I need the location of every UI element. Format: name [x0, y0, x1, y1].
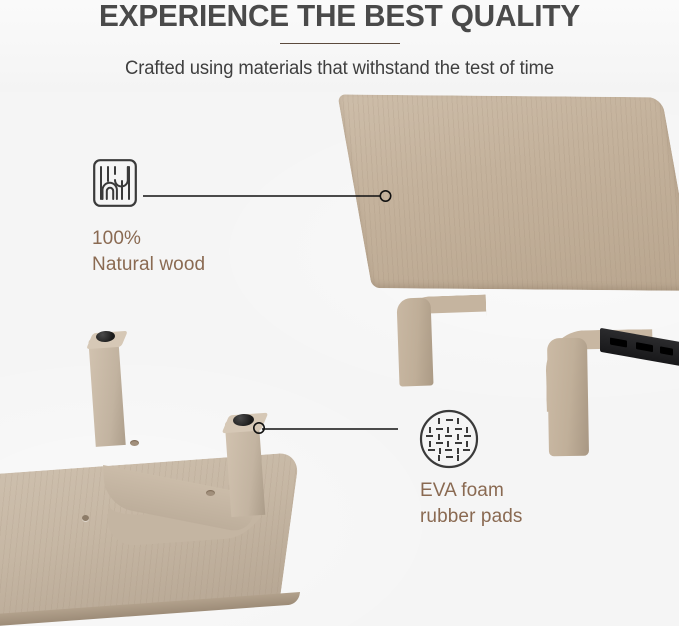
riser-right-leg: [547, 338, 589, 457]
page-subtitle: Crafted using materials that withstand t…: [10, 58, 669, 80]
leg-screw-plug: [206, 490, 215, 496]
riser-left-leg: [396, 297, 433, 386]
woven-texture-icon: [419, 409, 479, 469]
product-image-riser-underside: [0, 330, 360, 626]
usb-port-icon: [660, 346, 673, 355]
feature-caption-natural-wood: 100% Natural wood: [92, 226, 205, 278]
riser-board-front-edge: [377, 278, 679, 296]
header-band: EXPERIENCE THE BEST QUALITY Crafted usin…: [0, 0, 679, 92]
u-leg-left-post: [88, 337, 125, 447]
page-title: EXPERIENCE THE BEST QUALITY: [14, 0, 666, 34]
product-infographic: EXPERIENCE THE BEST QUALITY Crafted usin…: [0, 0, 679, 626]
usb-port-icon: [610, 338, 627, 348]
board-screw-hole: [82, 515, 89, 521]
feature-caption-eva-foam: EVA foam rubber pads: [420, 478, 523, 530]
wood-grain-icon: [92, 158, 138, 208]
riser-top-board: [337, 94, 679, 290]
u-leg-right-post: [225, 419, 266, 517]
title-divider: [280, 43, 400, 44]
usb-port-icon: [636, 342, 653, 352]
leg-screw-plug: [130, 440, 139, 446]
